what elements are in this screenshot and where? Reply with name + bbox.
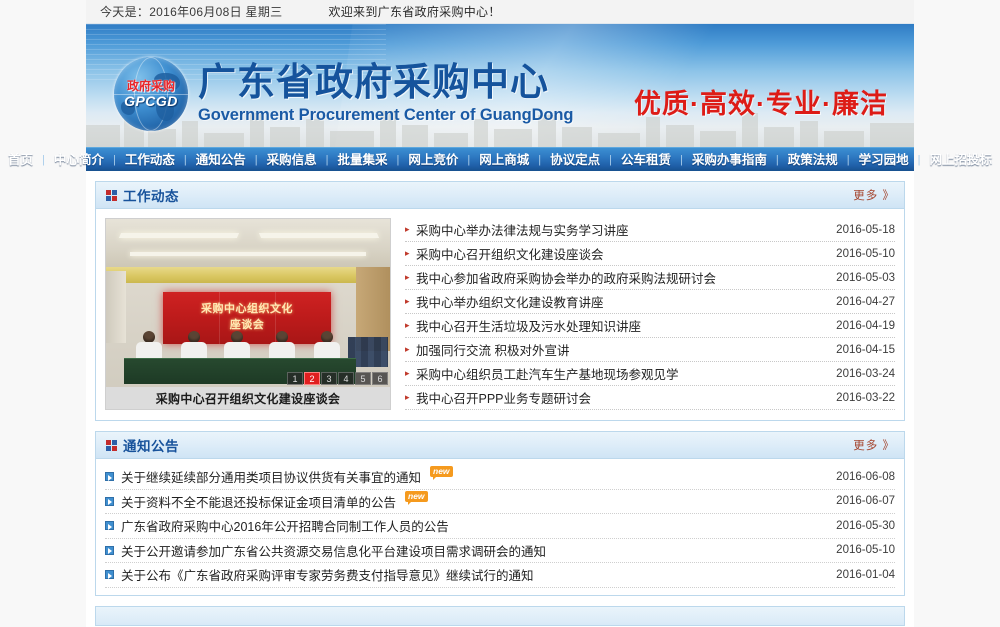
carousel-pagination[interactable]: 123456 (287, 372, 388, 385)
notices-panel: 通知公告 更多 》 关于继续延续部分通用类项目协议供货有关事宜的通知new201… (95, 431, 905, 596)
news-item-title[interactable]: 加强同行交流 积极对外宣讲 (416, 340, 569, 359)
triangle-right-icon: ▸ (405, 225, 413, 234)
news-item-date: 2016-03-24 (826, 368, 895, 380)
main-navigation: 首页|中心简介|工作动态|通知公告|采购信息|批量集采|网上竞价|网上商城|协议… (86, 147, 914, 171)
triangle-right-icon: ▸ (405, 369, 413, 378)
news-item-title[interactable]: 我中心举办组织文化建设教育讲座 (416, 292, 604, 311)
notice-date: 2016-06-07 (826, 495, 895, 507)
nav-item-9[interactable]: 公车租赁 (612, 148, 680, 172)
nav-item-0[interactable]: 首页 (0, 148, 42, 172)
work-dynamics-more-link[interactable]: 更多 》 (853, 187, 895, 203)
next-panel-clipped (95, 606, 905, 626)
nav-item-3[interactable]: 通知公告 (187, 148, 255, 172)
carousel-page-2[interactable]: 2 (304, 372, 320, 385)
news-item-date: 2016-04-15 (826, 344, 895, 356)
carousel-page-6[interactable]: 6 (372, 372, 388, 385)
photo-ceiling-decoration (106, 219, 390, 267)
news-item[interactable]: ▸采购中心举办法律法规与实务学习讲座2016-05-18 (405, 218, 895, 242)
blue-arrow-bullet-icon (105, 570, 114, 579)
banner-title-chinese: 广东省政府采购中心 (198, 64, 573, 102)
nav-item-5[interactable]: 批量集采 (328, 148, 396, 172)
site-banner: 政府采购 GPCGD 广东省政府采购中心 Government Procurem… (86, 24, 914, 147)
page-root: 今天是：2016年06月08日 星期三 欢迎来到广东省政府采购中心！ (0, 0, 1000, 627)
news-item[interactable]: ▸我中心召开PPP业务专题研讨会2016-03-22 (405, 386, 895, 410)
new-badge: new (405, 491, 428, 502)
notice-date: 2016-05-30 (826, 520, 895, 532)
notice-title[interactable]: 关于资料不全不能退还投标保证金项目清单的公告 (121, 492, 396, 511)
notice-title[interactable]: 关于继续延续部分通用类项目协议供货有关事宜的通知 (121, 467, 421, 486)
news-item[interactable]: ▸采购中心组织员工赴汽车生产基地现场参观见学2016-03-24 (405, 362, 895, 386)
carousel-page-1[interactable]: 1 (287, 372, 303, 385)
news-item-title[interactable]: 我中心召开生活垃圾及污水处理知识讲座 (416, 316, 641, 335)
gpcgd-globe-logo: 政府采购 GPCGD (114, 57, 188, 131)
carousel-page-5[interactable]: 5 (355, 372, 371, 385)
news-item-date: 2016-05-03 (826, 272, 895, 284)
nav-item-11[interactable]: 政策法规 (779, 148, 847, 172)
welcome-text: 欢迎来到广东省政府采购中心！ (328, 3, 500, 20)
four-squares-icon (106, 190, 117, 201)
news-carousel[interactable]: 采购中心组织文化 座谈会 (105, 218, 391, 410)
news-item-title[interactable]: 我中心参加省政府采购协会举办的政府采购法规研讨会 (416, 268, 716, 287)
triangle-right-icon: ▸ (405, 297, 413, 306)
nav-item-4[interactable]: 采购信息 (258, 148, 326, 172)
news-item-title[interactable]: 采购中心举办法律法规与实务学习讲座 (416, 220, 629, 239)
today-date-text: 今天是：2016年06月08日 星期三 (100, 3, 282, 20)
notices-more-link[interactable]: 更多 》 (853, 437, 895, 453)
news-item[interactable]: ▸我中心召开生活垃圾及污水处理知识讲座2016-04-19 (405, 314, 895, 338)
nav-item-13[interactable]: 网上招投标 (920, 148, 1000, 172)
triangle-right-icon: ▸ (405, 345, 413, 354)
banner-slogan: 优质·高效·专业·廉洁 (634, 82, 888, 121)
notice-date: 2016-01-04 (826, 569, 895, 581)
blue-arrow-bullet-icon (105, 497, 114, 506)
news-item-date: 2016-04-19 (826, 320, 895, 332)
next-panel-header (96, 607, 904, 626)
news-item-date: 2016-04-27 (826, 296, 895, 308)
notice-row[interactable]: 关于公布《广东省政府采购评审专家劳务费支付指导意见》继续试行的通知2016-01… (105, 563, 895, 588)
photo-wall-band-decoration (106, 267, 390, 283)
banner-title-english: Government Procurement Center of GuangDo… (198, 107, 573, 124)
carousel-page-3[interactable]: 3 (321, 372, 337, 385)
news-item-title[interactable]: 我中心召开PPP业务专题研讨会 (416, 388, 591, 407)
news-item[interactable]: ▸加强同行交流 积极对外宣讲2016-04-15 (405, 338, 895, 362)
work-dynamics-panel: 工作动态 更多 》 (95, 181, 905, 421)
notice-title[interactable]: 关于公开邀请参加广东省公共资源交易信息化平台建设项目需求调研会的通知 (121, 541, 546, 560)
site-container: 今天是：2016年06月08日 星期三 欢迎来到广东省政府采购中心！ (86, 0, 914, 627)
news-item[interactable]: ▸我中心举办组织文化建设教育讲座2016-04-27 (405, 290, 895, 314)
notice-date: 2016-06-08 (826, 471, 895, 483)
blue-arrow-bullet-icon (105, 546, 114, 555)
notice-title[interactable]: 关于公布《广东省政府采购评审专家劳务费支付指导意见》继续试行的通知 (121, 565, 534, 584)
notice-date: 2016-05-10 (826, 544, 895, 556)
news-item-title[interactable]: 采购中心组织员工赴汽车生产基地现场参观见学 (416, 364, 679, 383)
triangle-right-icon: ▸ (405, 321, 413, 330)
triangle-right-icon: ▸ (405, 249, 413, 258)
nav-item-8[interactable]: 协议定点 (541, 148, 609, 172)
logo-acronym-text: GPCGD (114, 93, 188, 109)
carousel-caption: 采购中心召开组织文化建设座谈会 (106, 387, 390, 409)
nav-item-12[interactable]: 学习园地 (850, 148, 918, 172)
blue-arrow-bullet-icon (105, 521, 114, 530)
blue-arrow-bullet-icon (105, 472, 114, 481)
notices-body: 关于继续延续部分通用类项目协议供货有关事宜的通知new2016-06-08关于资… (96, 459, 904, 595)
top-date-bar: 今天是：2016年06月08日 星期三 欢迎来到广东省政府采购中心！ (86, 0, 914, 24)
notices-panel-header: 通知公告 更多 》 (96, 432, 904, 459)
work-dynamics-news-list: ▸采购中心举办法律法规与实务学习讲座2016-05-18▸采购中心召开组织文化建… (391, 218, 895, 410)
four-squares-icon (106, 440, 117, 451)
nav-item-1[interactable]: 中心简介 (45, 148, 113, 172)
news-item[interactable]: ▸我中心参加省政府采购协会举办的政府采购法规研讨会2016-05-03 (405, 266, 895, 290)
carousel-page-4[interactable]: 4 (338, 372, 354, 385)
notice-title[interactable]: 广东省政府采购中心2016年公开招聘合同制工作人员的公告 (121, 516, 449, 535)
notices-title: 通知公告 (123, 435, 179, 455)
nav-item-6[interactable]: 网上竞价 (399, 148, 467, 172)
work-dynamics-body: 采购中心组织文化 座谈会 (96, 209, 904, 420)
nav-item-2[interactable]: 工作动态 (116, 148, 184, 172)
logo-chinese-text: 政府采购 (114, 77, 188, 94)
work-dynamics-panel-header: 工作动态 更多 》 (96, 182, 904, 209)
notice-row[interactable]: 关于资料不全不能退还投标保证金项目清单的公告new2016-06-07 (105, 490, 895, 515)
led-screen-line-1: 采购中心组织文化 (201, 302, 293, 318)
new-badge: new (430, 466, 453, 477)
news-item-date: 2016-05-10 (826, 248, 895, 260)
notice-row[interactable]: 广东省政府采购中心2016年公开招聘合同制工作人员的公告2016-05-30 (105, 514, 895, 539)
triangle-right-icon: ▸ (405, 273, 413, 282)
news-item-title[interactable]: 采购中心召开组织文化建设座谈会 (416, 244, 604, 263)
nav-item-7[interactable]: 网上商城 (470, 148, 538, 172)
news-item[interactable]: ▸采购中心召开组织文化建设座谈会2016-05-10 (405, 242, 895, 266)
news-item-date: 2016-03-22 (826, 392, 895, 404)
triangle-right-icon: ▸ (405, 393, 413, 402)
news-item-date: 2016-05-18 (826, 224, 895, 236)
notice-row[interactable]: 关于公开邀请参加广东省公共资源交易信息化平台建设项目需求调研会的通知2016-0… (105, 539, 895, 564)
banner-title-group: 广东省政府采购中心 Government Procurement Center … (198, 64, 573, 124)
notice-row[interactable]: 关于继续延续部分通用类项目协议供货有关事宜的通知new2016-06-08 (105, 465, 895, 490)
nav-item-10[interactable]: 采购办事指南 (683, 148, 776, 172)
work-dynamics-title: 工作动态 (123, 185, 179, 205)
photo-left-wall-decoration (106, 271, 126, 343)
